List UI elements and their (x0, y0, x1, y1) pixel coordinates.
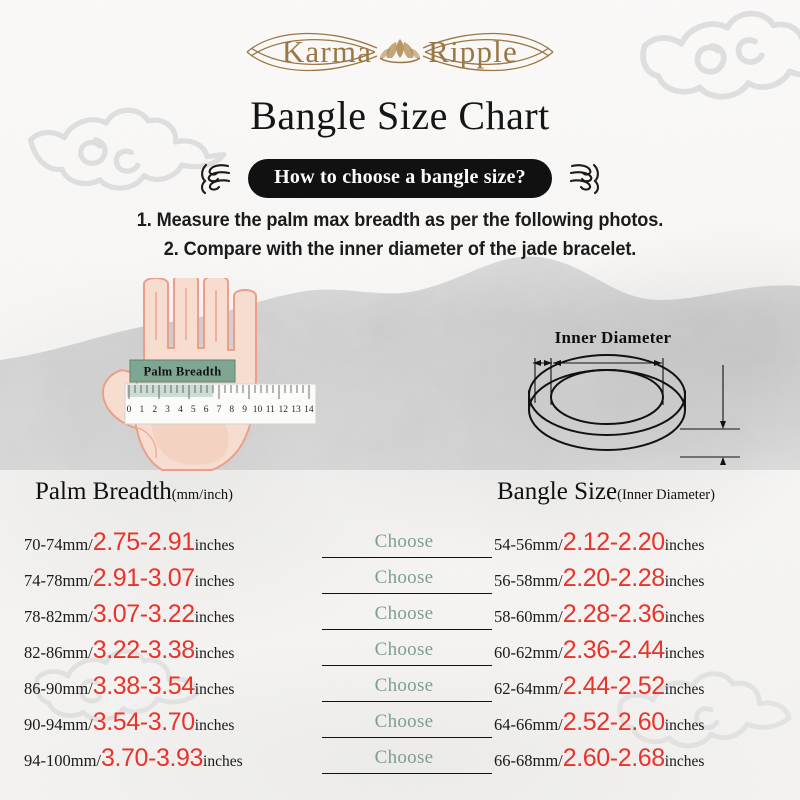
bangle-inch-value: 2.36-2.44 (563, 636, 665, 664)
swirl-ornament-icon (198, 161, 234, 195)
choose-cell[interactable]: Choose (318, 675, 490, 697)
table-row: 74-78mm/2.91-3.07inchesChoose56-58mm/2.2… (0, 560, 800, 596)
choose-underline (322, 773, 492, 774)
choose-underline (322, 593, 492, 594)
palm-inch-value: 2.75-2.91 (93, 528, 195, 556)
bangle-mm-value: 54-56mm/ (494, 535, 563, 554)
bangle-inch-value: 2.52-2.60 (563, 708, 665, 736)
palm-mm-value: 90-94mm/ (24, 715, 93, 734)
bangle-section-title: Bangle Size (497, 478, 617, 505)
choose-underline (322, 557, 492, 558)
table-row: 70-74mm/2.75-2.91inchesChoose54-56mm/2.1… (0, 524, 800, 560)
palm-mm-value: 74-78mm/ (24, 571, 93, 590)
brand-name-right: Ripple (428, 34, 518, 69)
choose-label: Choose (375, 711, 434, 732)
hand-measurement-illustration: Palm Breadth 01234567891011121314 (92, 278, 422, 473)
instruction-step: 1. Measure the palm max breadth as per t… (28, 206, 772, 235)
bangle-mm-value: 56-58mm/ (494, 571, 563, 590)
instruction-list: 1. Measure the palm max breadth as per t… (0, 206, 800, 264)
palm-unit-label: inches (195, 537, 235, 554)
palm-unit-label: inches (195, 717, 235, 734)
bangle-unit-label: inches (665, 537, 705, 554)
palm-section-header: Palm Breadth(mm/inch) (35, 478, 233, 506)
palm-breadth-cell: 78-82mm/3.07-3.22inches (24, 600, 324, 629)
ruler-tick-label: 12 (278, 405, 288, 415)
ruler-tick-label: 2 (152, 405, 157, 415)
choose-cell[interactable]: Choose (318, 567, 490, 589)
table-row: 94-100mm/3.70-3.93inchesChoose66-68mm/2.… (0, 740, 800, 776)
choose-underline (322, 701, 492, 702)
palm-mm-value: 70-74mm/ (24, 535, 93, 554)
bangle-size-cell: 60-62mm/2.36-2.44inches (494, 636, 794, 665)
bangle-size-cell: 62-64mm/2.44-2.52inches (494, 672, 794, 701)
bangle-inch-value: 2.44-2.52 (563, 672, 665, 700)
choose-underline (322, 629, 492, 630)
section-headers: Palm Breadth(mm/inch) Bangle Size(Inner … (0, 478, 800, 510)
ruler-tick-label: 13 (291, 405, 301, 415)
ruler-tick-label: 1 (139, 405, 144, 415)
palm-inch-value: 3.38-3.54 (93, 672, 195, 700)
palm-breadth-badge: Palm Breadth (130, 360, 235, 382)
palm-inch-value: 2.91-3.07 (93, 564, 195, 592)
choose-cell[interactable]: Choose (318, 639, 490, 661)
ruler-tick-label: 5 (191, 405, 196, 415)
palm-inch-value: 3.07-3.22 (93, 600, 195, 628)
bangle-mm-value: 64-66mm/ (494, 715, 563, 734)
brand-name-left: Karma (282, 34, 372, 69)
palm-breadth-cell: 70-74mm/2.75-2.91inches (24, 528, 324, 557)
bangle-inch-value: 2.12-2.20 (563, 528, 665, 556)
choose-underline (322, 737, 492, 738)
bangle-inch-value: 2.60-2.68 (563, 744, 665, 772)
palm-mm-value: 78-82mm/ (24, 607, 93, 626)
bangle-size-cell: 64-66mm/2.52-2.60inches (494, 708, 794, 737)
choose-label: Choose (375, 603, 434, 624)
brand-logo: Karma Ripple (0, 22, 800, 84)
bangle-inch-value: 2.20-2.28 (563, 564, 665, 592)
choose-cell[interactable]: Choose (318, 603, 490, 625)
bangle-size-cell: 58-60mm/2.28-2.36inches (494, 600, 794, 629)
palm-mm-value: 94-100mm/ (24, 751, 101, 770)
palm-breadth-cell: 90-94mm/3.54-3.70inches (24, 708, 324, 737)
bangle-unit-label: inches (665, 753, 705, 770)
inner-diameter-label: Inner Diameter (555, 328, 672, 347)
palm-breadth-badge-label: Palm Breadth (143, 365, 221, 379)
ruler-tick-label: 10 (253, 405, 263, 415)
palm-mm-value: 82-86mm/ (24, 643, 93, 662)
bangle-unit-label: inches (665, 645, 705, 662)
swirl-ornament-icon (566, 161, 602, 195)
palm-inch-value: 3.54-3.70 (93, 708, 195, 736)
bangle-icon (529, 355, 685, 450)
palm-section-subtitle: (mm/inch) (172, 487, 233, 503)
ruler-tick-label: 3 (165, 405, 170, 415)
choose-cell[interactable]: Choose (318, 747, 490, 769)
palm-mm-value: 86-90mm/ (24, 679, 93, 698)
bangle-unit-label: inches (665, 717, 705, 734)
ruler-tick-label: 4 (178, 405, 183, 415)
bangle-size-cell: 66-68mm/2.60-2.68inches (494, 744, 794, 773)
choose-cell[interactable]: Choose (318, 531, 490, 553)
palm-inch-value: 3.70-3.93 (101, 744, 203, 772)
table-row: 82-86mm/3.22-3.38inchesChoose60-62mm/2.3… (0, 632, 800, 668)
bangle-size-cell: 56-58mm/2.20-2.28inches (494, 564, 794, 593)
ruler-tick-label: 0 (127, 405, 132, 415)
choose-label: Choose (375, 567, 434, 588)
palm-unit-label: inches (195, 645, 235, 662)
bangle-unit-label: inches (665, 609, 705, 626)
palm-unit-label: inches (195, 681, 235, 698)
choose-label: Choose (375, 531, 434, 552)
palm-breadth-cell: 86-90mm/3.38-3.54inches (24, 672, 324, 701)
ruler-tick-label: 7 (217, 405, 222, 415)
bangle-unit-label: inches (665, 573, 705, 590)
bangle-section-header: Bangle Size(Inner Diameter) (497, 478, 715, 506)
bangle-inch-value: 2.28-2.36 (563, 600, 665, 628)
bangle-mm-value: 58-60mm/ (494, 607, 563, 626)
palm-breadth-cell: 82-86mm/3.22-3.38inches (24, 636, 324, 665)
palm-inch-value: 3.22-3.38 (93, 636, 195, 664)
callout-row: How to choose a bangle size? (0, 156, 800, 200)
bangle-size-cell: 54-56mm/2.12-2.20inches (494, 528, 794, 557)
callout-pill: How to choose a bangle size? (248, 159, 552, 198)
choose-cell[interactable]: Choose (318, 711, 490, 733)
palm-unit-label: inches (195, 609, 235, 626)
ruler-tick-label: 6 (204, 405, 209, 415)
ruler-tick-label: 11 (266, 405, 275, 415)
ruler-tick-label: 14 (304, 405, 314, 415)
choose-label: Choose (375, 747, 434, 768)
palm-unit-label: inches (203, 753, 243, 770)
bangle-mm-value: 66-68mm/ (494, 751, 563, 770)
choose-label: Choose (375, 675, 434, 696)
ruler-tick-label: 8 (229, 405, 234, 415)
bangle-mm-value: 60-62mm/ (494, 643, 563, 662)
palm-breadth-cell: 74-78mm/2.91-3.07inches (24, 564, 324, 593)
table-row: 86-90mm/3.38-3.54inchesChoose62-64mm/2.4… (0, 668, 800, 704)
page-title: Bangle Size Chart (0, 92, 800, 139)
bangle-mm-value: 62-64mm/ (494, 679, 563, 698)
lotus-icon (380, 39, 420, 63)
bangle-unit-label: inches (665, 681, 705, 698)
bangle-diagram-illustration: Inner Diameter (495, 325, 745, 475)
ruler-tick-label: 9 (242, 405, 247, 415)
palm-breadth-cell: 94-100mm/3.70-3.93inches (24, 744, 324, 773)
ruler-icon: 01234567891011121314 (125, 384, 316, 424)
table-row: 78-82mm/3.07-3.22inchesChoose58-60mm/2.2… (0, 596, 800, 632)
bangle-section-subtitle: (Inner Diameter) (617, 487, 715, 503)
choose-underline (322, 665, 492, 666)
size-table: 70-74mm/2.75-2.91inchesChoose54-56mm/2.1… (0, 524, 800, 776)
palm-unit-label: inches (195, 573, 235, 590)
table-row: 90-94mm/3.54-3.70inchesChoose64-66mm/2.5… (0, 704, 800, 740)
choose-label: Choose (375, 639, 434, 660)
instruction-step: 2. Compare with the inner diameter of th… (28, 235, 772, 264)
palm-section-title: Palm Breadth (35, 478, 172, 505)
